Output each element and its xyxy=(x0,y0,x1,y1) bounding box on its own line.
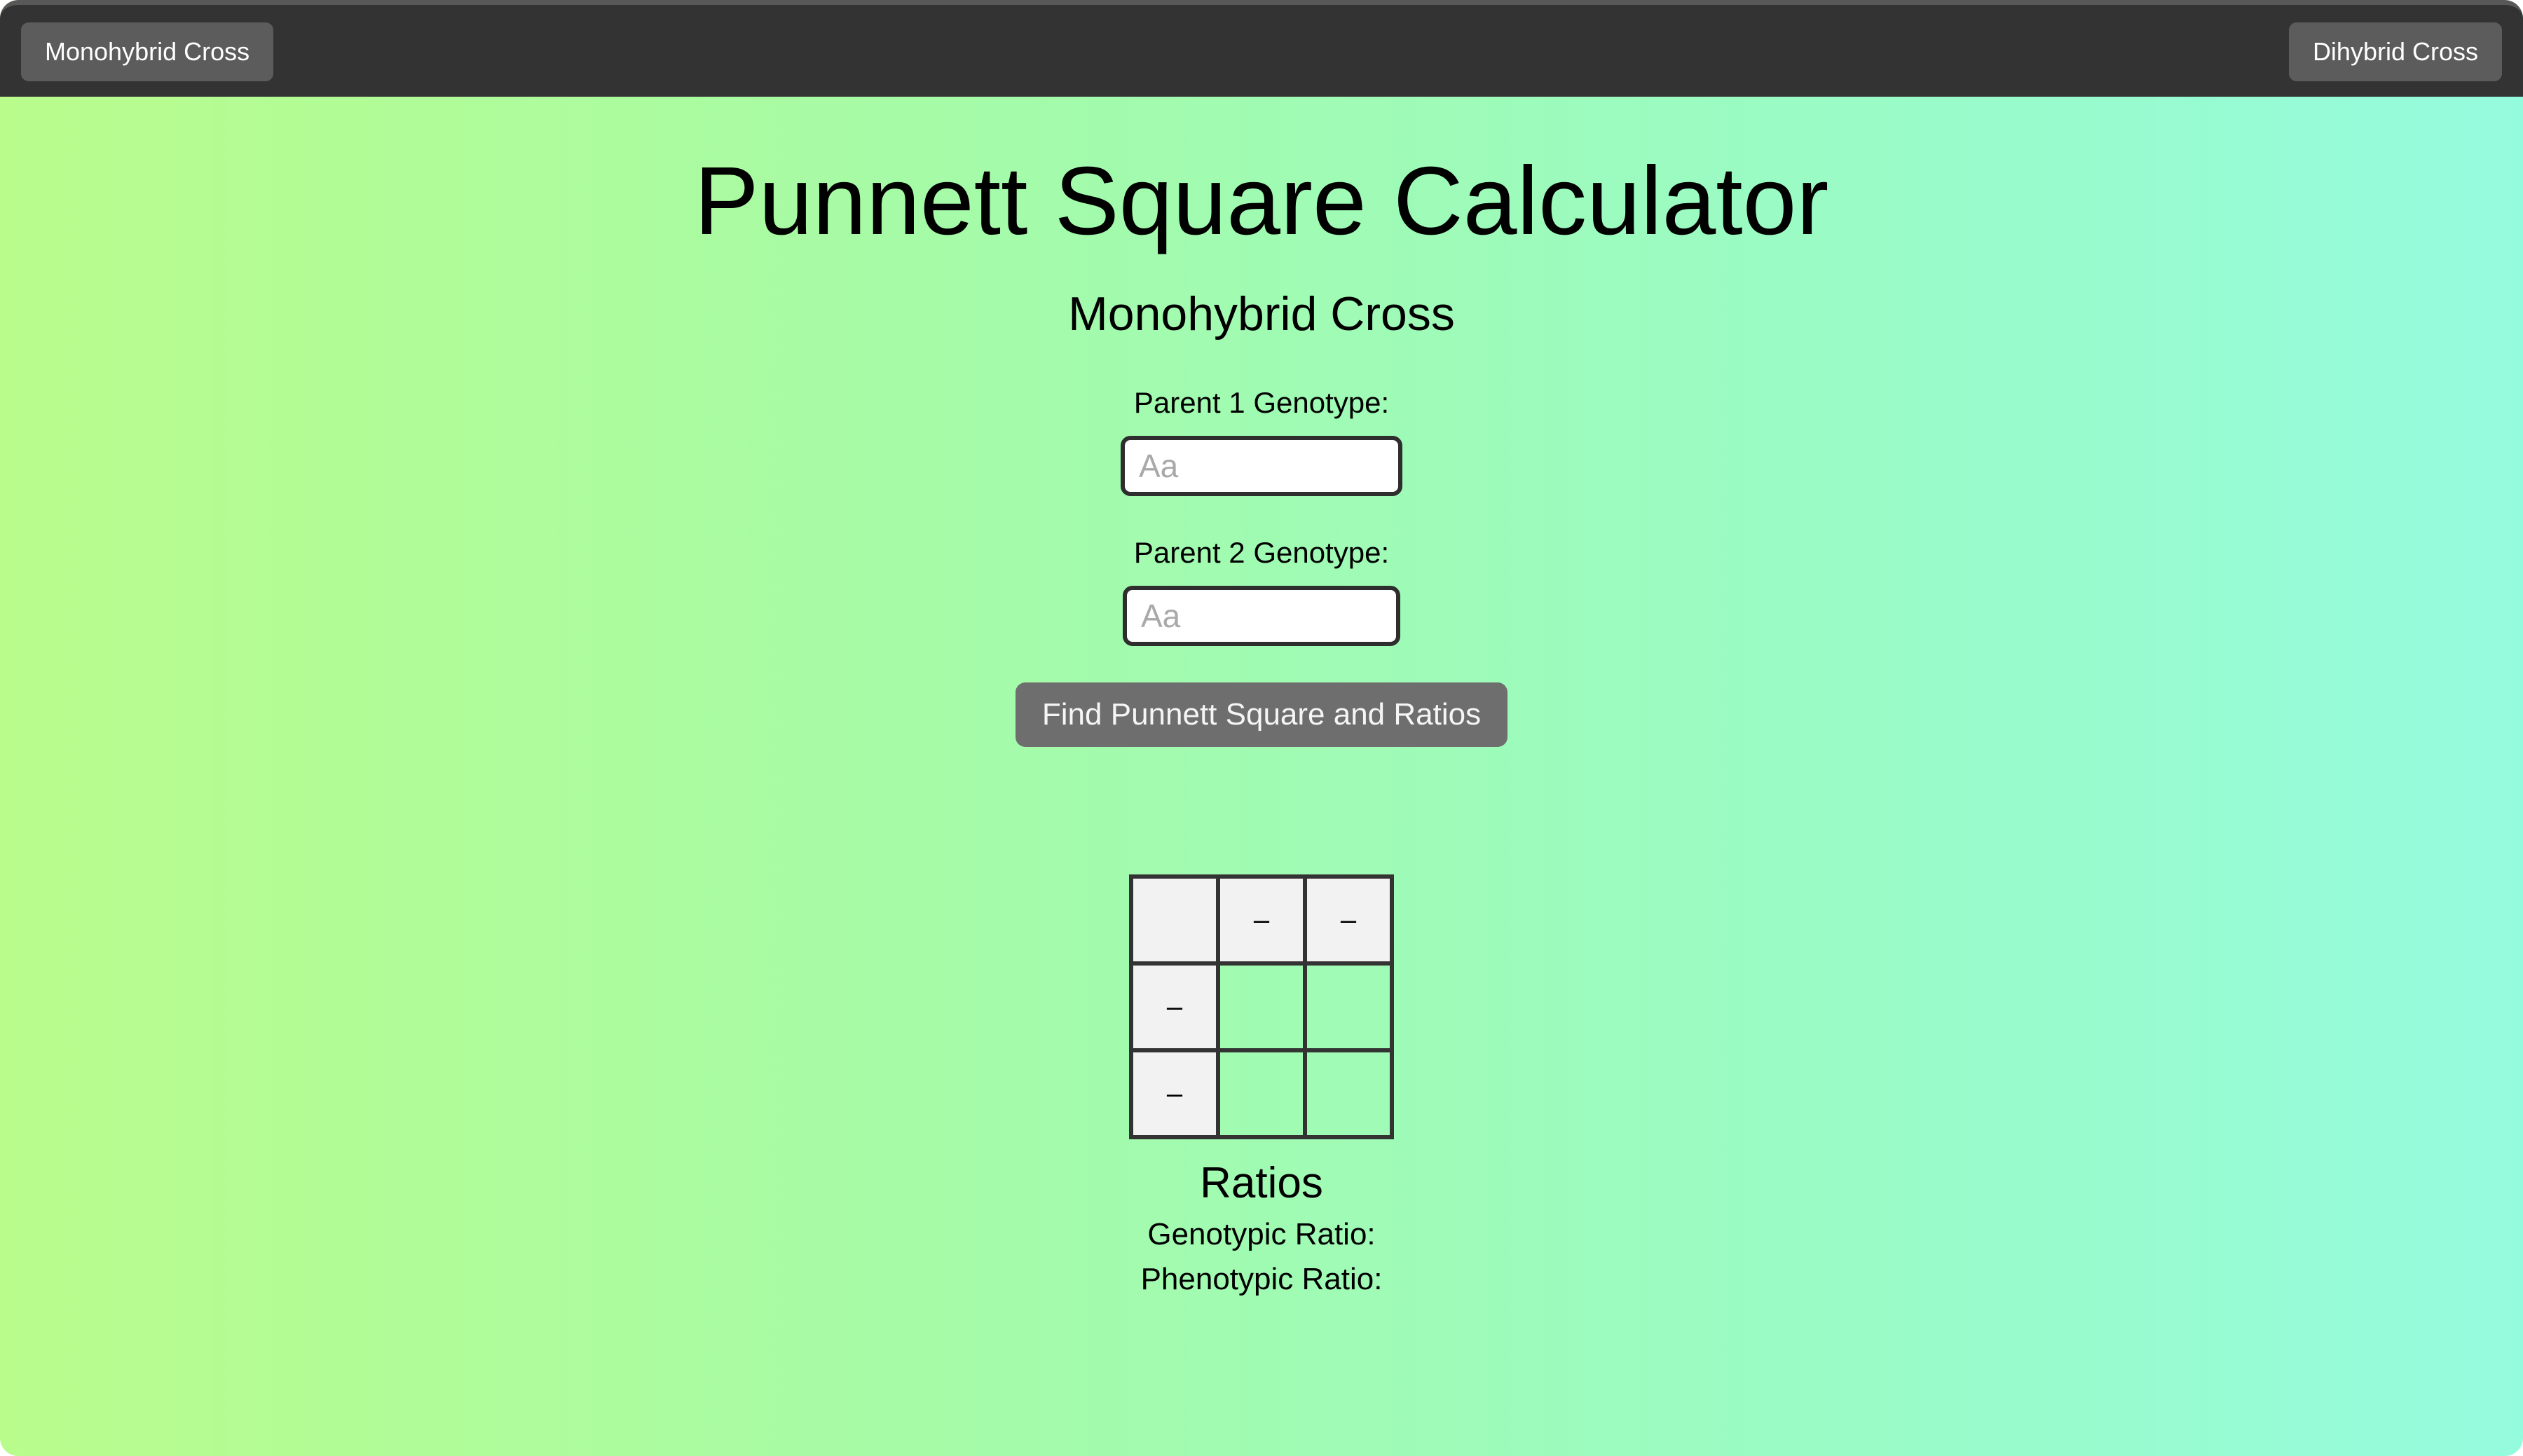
punnett-cell-r2-c2 xyxy=(1305,1050,1392,1137)
punnett-cell-r1-c2 xyxy=(1305,963,1392,1050)
nav-dihybrid-cross-button[interactable]: Dihybrid Cross xyxy=(2289,22,2502,81)
find-punnett-square-and-ratios-button[interactable]: Find Punnett Square and Ratios xyxy=(1016,682,1507,747)
page-title: Punnett Square Calculator xyxy=(0,97,2523,249)
nav-monohybrid-cross-button[interactable]: Monohybrid Cross xyxy=(21,22,273,81)
punnett-row: – xyxy=(1131,1050,1392,1137)
genotypic-ratio-row: Genotypic Ratio: xyxy=(0,1218,2523,1251)
parent1-genotype-input[interactable] xyxy=(1121,436,1402,496)
punnett-cell-r1-c1 xyxy=(1218,963,1305,1050)
punnett-cell-r2-c1 xyxy=(1218,1050,1305,1137)
parent2-genotype-input[interactable] xyxy=(1123,586,1400,646)
punnett-row: –– xyxy=(1131,877,1392,963)
genotypic-ratio-label: Genotypic Ratio: xyxy=(1147,1217,1375,1251)
punnett-square-table: –––– xyxy=(1129,874,1394,1139)
section-title-monohybrid-cross: Monohybrid Cross xyxy=(0,249,2523,338)
punnett-square-container: –––– xyxy=(0,874,2523,1139)
punnett-cell-r0-c0 xyxy=(1131,877,1218,963)
punnett-row: – xyxy=(1131,963,1392,1050)
phenotypic-ratio-row: Phenotypic Ratio: xyxy=(0,1263,2523,1296)
top-navigation-bar: Monohybrid Cross Dihybrid Cross xyxy=(0,0,2523,97)
parent1-genotype-label: Parent 1 Genotype: xyxy=(0,388,2523,418)
phenotypic-ratio-label: Phenotypic Ratio: xyxy=(1141,1262,1383,1296)
punnett-cell-r0-c1: – xyxy=(1218,877,1305,963)
punnett-cell-r1-c0: – xyxy=(1131,963,1218,1050)
ratios-heading: Ratios xyxy=(0,1160,2523,1206)
punnett-cell-r2-c0: – xyxy=(1131,1050,1218,1137)
punnett-cell-r0-c2: – xyxy=(1305,877,1392,963)
main-content: Punnett Square Calculator Monohybrid Cro… xyxy=(0,97,2523,1456)
parent2-genotype-label: Parent 2 Genotype: xyxy=(0,538,2523,568)
page-shell: Monohybrid Cross Dihybrid Cross Punnett … xyxy=(0,0,2523,1456)
